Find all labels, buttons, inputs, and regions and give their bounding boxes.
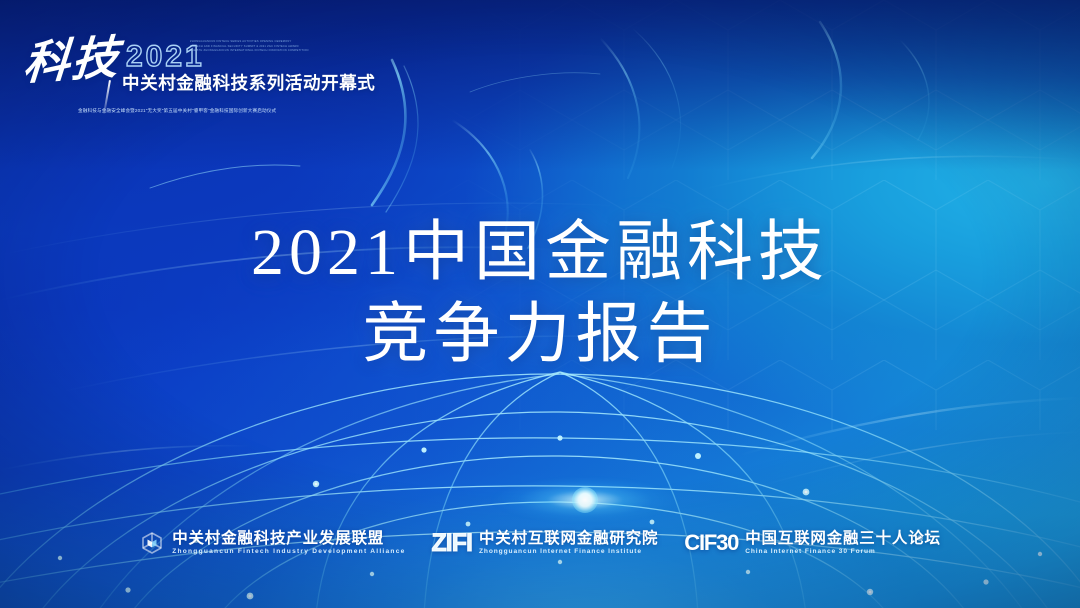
cube-mark-icon bbox=[139, 530, 165, 556]
banner-subtitle: 中关村金融科技系列活动开幕式 bbox=[122, 70, 375, 95]
logo-text-block: 中关村金融科技产业发展联盟 Zhongguancun Fintech Indus… bbox=[172, 530, 405, 557]
footer-logo-bar: 中关村金融科技产业发展联盟 Zhongguancun Fintech Indus… bbox=[0, 520, 1080, 566]
logo-zgc-fintech-alliance: 中关村金融科技产业发展联盟 Zhongguancun Fintech Indus… bbox=[139, 530, 405, 557]
main-title-line-1: 2021中国金融科技 bbox=[0, 212, 1080, 294]
logo-name-cn: 中关村金融科技产业发展联盟 bbox=[172, 530, 405, 547]
logo-name-cn: 中国互联网金融三十人论坛 bbox=[745, 530, 941, 547]
logo-name-en: China Internet Finance 30 Forum bbox=[745, 547, 941, 557]
cif30-mark-icon: CIF30 bbox=[684, 532, 738, 554]
logo-zgc-internet-finance-institute: ZIFI 中关村互联网金融研究院 Zhongguancun Internet F… bbox=[432, 530, 659, 557]
logo-name-en: Zhongguancun Internet Finance Institute bbox=[479, 547, 658, 557]
logo-name-en: Zhongguancun Fintech Industry Developmen… bbox=[172, 547, 405, 557]
logo-name-cn: 中关村互联网金融研究院 bbox=[479, 530, 658, 547]
poster-canvas: 科技 2021 ZHONGGUANCUN FINTECH SERIES ACTI… bbox=[0, 0, 1080, 608]
main-title: 2021中国金融科技 竞争力报告 bbox=[0, 212, 1080, 376]
banner-english-line-3: THE 5TH ZHONGGUANCUN INTERNATIONAL FINTE… bbox=[190, 49, 340, 54]
logo-text-block: 中关村互联网金融研究院 Zhongguancun Internet Financ… bbox=[479, 530, 658, 557]
event-banner-lockup: 科技 2021 ZHONGGUANCUN FINTECH SERIES ACTI… bbox=[18, 22, 348, 104]
banner-micro-caption: 金融科技与金融安全峰会暨2021"无大奖"第五届中关村"睿甲客"金融科技国际创新… bbox=[78, 108, 276, 114]
banner-english-microtext: ZHONGGUANCUN FINTECH SERIES ACTIVITIES O… bbox=[190, 40, 340, 54]
logo-text-block: 中国互联网金融三十人论坛 China Internet Finance 30 F… bbox=[745, 530, 941, 557]
main-title-line-2: 竞争力报告 bbox=[0, 294, 1080, 376]
logo-cif30-forum: CIF30 中国互联网金融三十人论坛 China Internet Financ… bbox=[684, 530, 941, 557]
zifi-mark-icon: ZIFI bbox=[432, 531, 472, 556]
